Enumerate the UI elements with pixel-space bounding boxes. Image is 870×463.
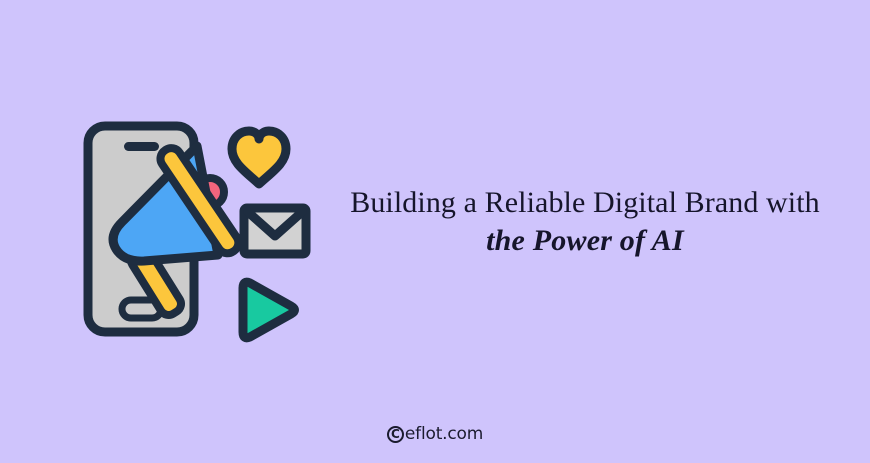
headline-line-1: Building a Reliable Digital Brand with xyxy=(330,186,840,220)
play-shape xyxy=(243,282,295,338)
heart-icon xyxy=(232,131,286,184)
page-title: Building a Reliable Digital Brand with t… xyxy=(330,186,840,257)
envelope-icon xyxy=(244,208,306,254)
headline-line-2: the Power of AI xyxy=(330,224,840,258)
play-icon xyxy=(243,282,295,338)
phone-speaker xyxy=(124,142,159,151)
illustration-canvas xyxy=(0,0,340,463)
heart-shape xyxy=(232,131,286,184)
copyright-icon xyxy=(387,426,404,443)
site-watermark: eflot.com xyxy=(0,424,870,444)
digital-marketing-illustration xyxy=(0,0,340,463)
watermark-text: eflot.com xyxy=(405,424,483,444)
promo-banner: Building a Reliable Digital Brand with t… xyxy=(0,0,870,463)
